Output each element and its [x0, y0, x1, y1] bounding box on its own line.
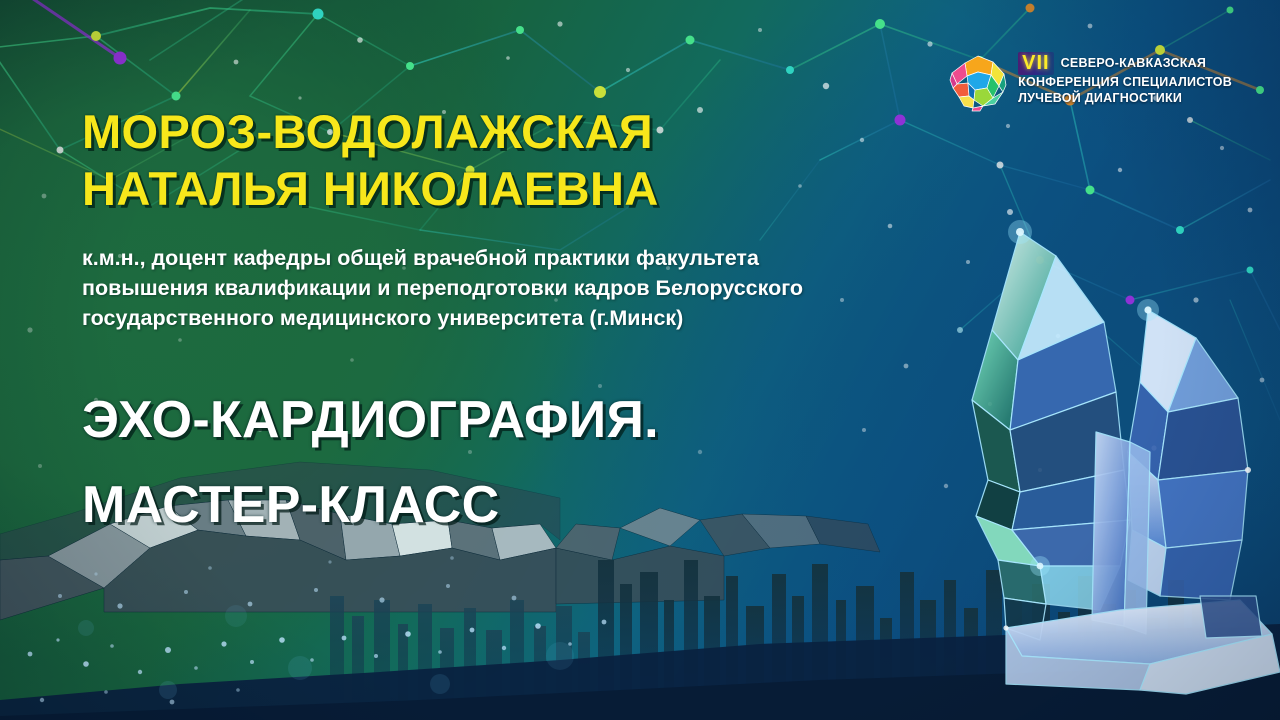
talk-title-line1: ЭХО-КАРДИОГРАФИЯ. [82, 378, 962, 463]
talk-title-line2: МАСТЕР-КЛАСС [82, 463, 962, 548]
speaker-description: к.м.н., доцент кафедры общей врачебной п… [82, 243, 962, 333]
speaker-name-line2: НАТАЛЬЯ НИКОЛАЕВНА [82, 160, 902, 217]
logo-line-3: ЛУЧЕВОЙ ДИАГНОСТИКИ [1018, 91, 1232, 107]
slide-content: МОРОЗ-ВОДОЛАЖСКАЯ НАТАЛЬЯ НИКОЛАЕВНА к.м… [82, 0, 982, 720]
logo-first-row: VII СЕВЕРО-КАВКАЗСКАЯ [1018, 52, 1232, 75]
speaker-description-line2: повышения квалификации и переподготовки … [82, 273, 962, 303]
speaker-name-line1: МОРОЗ-ВОДОЛАЖСКАЯ [82, 105, 653, 158]
logo-line-2: КОНФЕРЕНЦИЯ СПЕЦИАЛИСТОВ [1018, 75, 1232, 91]
conference-logo: VII СЕВЕРО-КАВКАЗСКАЯ КОНФЕРЕНЦИЯ СПЕЦИА… [947, 50, 1232, 114]
speaker-name: МОРОЗ-ВОДОЛАЖСКАЯ НАТАЛЬЯ НИКОЛАЕВНА [82, 103, 902, 217]
logo-line-1: СЕВЕРО-КАВКАЗСКАЯ [1061, 56, 1207, 72]
speaker-description-line1: к.м.н., доцент кафедры общей врачебной п… [82, 243, 962, 273]
polygon-sphere-icon [947, 52, 1009, 114]
conference-slide: МОРОЗ-ВОДОЛАЖСКАЯ НАТАЛЬЯ НИКОЛАЕВНА к.м… [0, 0, 1280, 720]
logo-roman-numeral: VII [1018, 52, 1053, 75]
speaker-description-line3: государственного медицинского университе… [82, 303, 962, 333]
logo-text-block: VII СЕВЕРО-КАВКАЗСКАЯ КОНФЕРЕНЦИЯ СПЕЦИА… [1018, 50, 1232, 106]
talk-title: ЭХО-КАРДИОГРАФИЯ. МАСТЕР-КЛАСС [82, 378, 962, 548]
